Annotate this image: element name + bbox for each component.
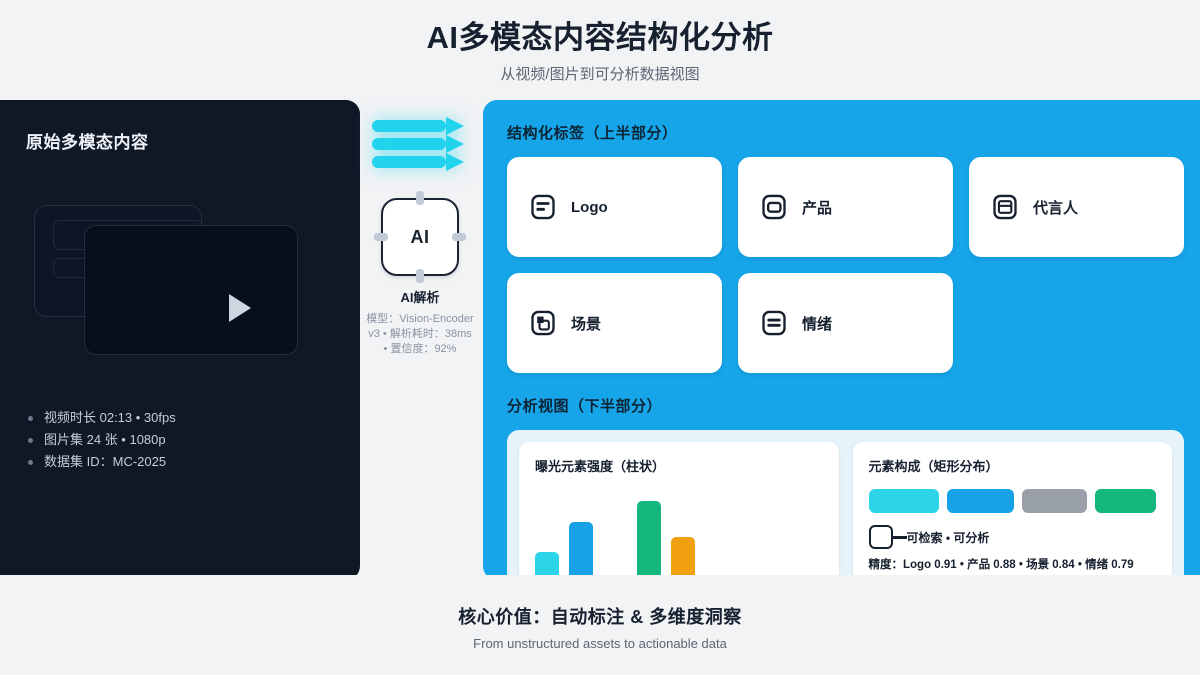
- tag-card-emotion[interactable]: 情绪: [738, 273, 953, 373]
- bar-情绪: [671, 537, 695, 575]
- treemap-title: 元素构成（矩形分布）: [869, 456, 1157, 475]
- rounded-rect-icon: [760, 193, 788, 221]
- tag-card-product[interactable]: 产品: [738, 157, 953, 257]
- legend-swatch-icon: [869, 525, 893, 549]
- structured-output-panel: 结构化标签（上半部分） Logo 产品: [483, 100, 1200, 575]
- document-lines-icon: [529, 193, 557, 221]
- treemap-block-产品: [947, 489, 1015, 513]
- tag-card-label: 场景: [571, 313, 601, 334]
- bar-场景: [637, 501, 661, 575]
- page-header: AI多模态内容结构化分析 从视频/图片到可分析数据视图: [0, 0, 1200, 98]
- tag-card-label: 产品: [802, 197, 832, 218]
- list-item: 数据集 ID：MC-2025: [26, 451, 334, 473]
- mockup-front-card: [84, 225, 298, 355]
- connector-nub-left: [374, 233, 388, 241]
- connector-nub-right: [452, 233, 466, 241]
- connector-nub-bottom: [416, 269, 424, 283]
- analysis-views-container: 曝光元素强度（柱状） 元素构成（矩形分布） 可检索 • 可分析 精度：Logo …: [507, 430, 1184, 575]
- tag-card-grid: Logo 产品 代言人: [507, 157, 1184, 373]
- flow-arrowhead: [446, 117, 464, 135]
- flow-bar: [372, 138, 446, 150]
- ai-node-caption: AI解析: [365, 287, 475, 306]
- ai-node-label: AI: [411, 227, 430, 248]
- layers-icon: [529, 309, 557, 337]
- source-content-panel: 原始多模态内容 视频时长 02:13 • 30fps 图片集 24 张 • 10…: [0, 100, 360, 575]
- play-triangle-icon: [229, 294, 251, 322]
- bar-chart-plot: [535, 489, 823, 575]
- ai-node-meta: 模型：Vision-Encoder v3 • 解析耗时：38ms • 置信度：9…: [365, 312, 475, 357]
- views-section-title: 分析视图（下半部分）: [507, 395, 1184, 416]
- page-title: AI多模态内容结构化分析: [0, 17, 1200, 59]
- flow-arrowhead: [446, 153, 464, 171]
- page-subtitle: 从视频/图片到可分析数据视图: [0, 65, 1200, 85]
- legend-connector-line: [893, 536, 907, 539]
- tag-card-logo[interactable]: Logo: [507, 157, 722, 257]
- flow-bar: [372, 120, 446, 132]
- treemap-block-场景: [1022, 489, 1087, 513]
- bar-chart-card: 曝光元素强度（柱状）: [519, 442, 839, 575]
- legend-label: 可检索 • 可分析: [907, 529, 990, 546]
- treemap-card: 元素构成（矩形分布） 可检索 • 可分析 精度：Logo 0.91 • 产品 0…: [853, 442, 1173, 575]
- treemap-block-情绪: [1095, 489, 1156, 513]
- list-item: 视频时长 02:13 • 30fps: [26, 407, 334, 429]
- footer-title: 核心价值：自动标注 & 多维度洞察: [0, 603, 1200, 629]
- treemap-blocks: [869, 489, 1157, 513]
- tag-card-label: 代言人: [1033, 197, 1078, 218]
- treemap-block-Logo: [869, 489, 939, 513]
- flow-arrows-icon: [372, 118, 468, 176]
- diagram-stage: 原始多模态内容 视频时长 02:13 • 30fps 图片集 24 张 • 10…: [0, 98, 1200, 575]
- tag-card-label: Logo: [571, 199, 608, 216]
- source-panel-title: 原始多模态内容: [26, 128, 334, 153]
- tag-card-spokesperson[interactable]: 代言人: [969, 157, 1184, 257]
- flow-bar: [372, 156, 446, 168]
- bar-产品: [569, 522, 593, 575]
- footer-subtitle: From unstructured assets to actionable d…: [0, 636, 1200, 651]
- connector-nub-top: [416, 191, 424, 205]
- bar-Logo: [535, 552, 559, 575]
- window-icon: [991, 193, 1019, 221]
- page-root: AI多模态内容结构化分析 从视频/图片到可分析数据视图 原始多模态内容 视频时长…: [0, 0, 1200, 675]
- page-footer: 核心价值：自动标注 & 多维度洞察 From unstructured asse…: [0, 575, 1200, 675]
- tags-section-title: 结构化标签（上半部分）: [507, 122, 1184, 143]
- list-lines-icon: [760, 309, 788, 337]
- treemap-legend: 可检索 • 可分析: [869, 525, 1157, 549]
- media-mockup: [26, 205, 334, 375]
- tag-card-scene[interactable]: 场景: [507, 273, 722, 373]
- flow-arrowhead: [446, 135, 464, 153]
- bar-chart-title: 曝光元素强度（柱状）: [535, 456, 823, 475]
- precision-annotation: 精度：Logo 0.91 • 产品 0.88 • 场景 0.84 • 情绪 0.…: [869, 557, 1157, 573]
- tag-card-label: 情绪: [802, 313, 832, 334]
- ai-processing-column: AI AI解析 模型：Vision-Encoder v3 • 解析耗时：38ms…: [365, 100, 475, 357]
- source-metadata-list: 视频时长 02:13 • 30fps 图片集 24 张 • 1080p 数据集 …: [26, 407, 334, 473]
- ai-node[interactable]: AI: [381, 198, 459, 276]
- list-item: 图片集 24 张 • 1080p: [26, 429, 334, 451]
